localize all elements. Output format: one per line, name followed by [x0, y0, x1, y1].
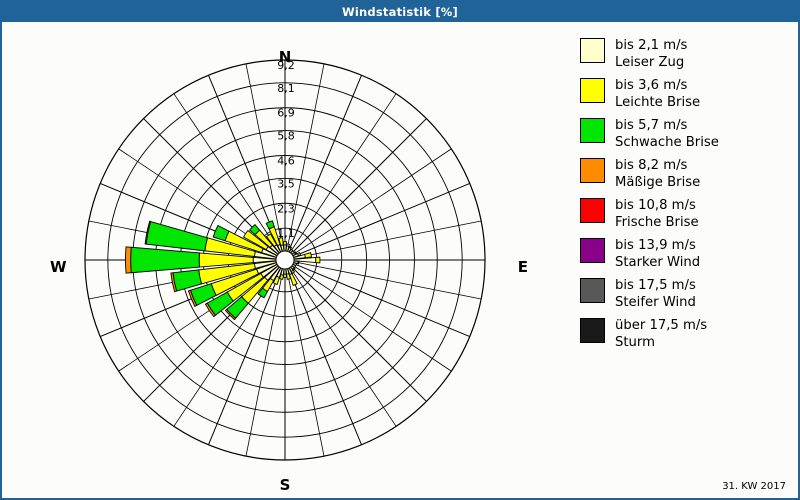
- legend-label: bis 2,1 m/s Leiser Zug: [615, 36, 687, 71]
- legend-swatch-leiser-zug: [580, 38, 605, 63]
- wind-speed-legend: bis 2,1 m/s Leiser Zug bis 3,6 m/s Leich…: [580, 36, 796, 356]
- compass-label-south: S: [2, 476, 568, 494]
- legend-item: bis 10,8 m/s Frische Brise: [580, 196, 796, 231]
- legend-name: Leichte Brise: [615, 94, 700, 111]
- radial-tick-label: 4,6: [277, 155, 295, 168]
- legend-label: bis 13,9 m/s Starker Wind: [615, 236, 700, 271]
- grid-spoke: [294, 262, 481, 299]
- legend-speed: bis 13,9 m/s: [615, 237, 700, 254]
- legend-speed: bis 8,2 m/s: [615, 157, 700, 174]
- legend-item: bis 17,5 m/s Steifer Wind: [580, 276, 796, 311]
- legend-name: Sturm: [615, 334, 707, 351]
- legend-speed: über 17,5 m/s: [615, 317, 707, 334]
- grid-spoke: [290, 267, 396, 426]
- compass-label-west: W: [50, 258, 67, 276]
- wind-rose-petal-segment: [298, 253, 301, 256]
- legend-swatch-frische-brise: [580, 198, 605, 223]
- legend-name: Leiser Zug: [615, 54, 687, 71]
- radial-tick-label: 3,5: [277, 177, 295, 190]
- wind-rose-petal-segment: [125, 247, 131, 273]
- calendar-week-footnote: 31. KW 2017: [722, 481, 786, 492]
- grid-spoke: [291, 266, 426, 401]
- legend-name: Starker Wind: [615, 254, 700, 271]
- window-title: Windstatistik [%]: [342, 5, 458, 19]
- grid-spoke: [288, 75, 361, 251]
- wind-rose-petal-segment: [316, 257, 320, 263]
- legend-speed: bis 3,6 m/s: [615, 77, 700, 94]
- legend-name: Schwache Brise: [615, 134, 719, 151]
- windstatistik-window: Windstatistik [%] 1,12,33,54,65,86,98,19…: [0, 0, 800, 500]
- wind-rose-petal-segment: [290, 274, 298, 286]
- legend-label: bis 17,5 m/s Steifer Wind: [615, 276, 696, 311]
- wind-rose-petal-segment: [289, 246, 291, 248]
- legend-label: bis 3,6 m/s Leichte Brise: [615, 76, 700, 111]
- compass-label-north: N: [2, 48, 568, 66]
- radial-tick-label: 2,3: [277, 202, 295, 215]
- grid-spoke: [287, 269, 324, 456]
- wind-rose-svg: 1,12,33,54,65,86,98,19,2: [2, 22, 568, 498]
- legend-swatch-sturm: [580, 318, 605, 343]
- radial-tick-label: 1,1: [277, 227, 295, 240]
- radial-tick-label: 8,1: [277, 82, 295, 95]
- legend-item: bis 5,7 m/s Schwache Brise: [580, 116, 796, 151]
- legend-name: Mäßige Brise: [615, 174, 700, 191]
- grid-spoke: [293, 263, 469, 336]
- legend-label: bis 5,7 m/s Schwache Brise: [615, 116, 719, 151]
- legend-swatch-maessige-brise: [580, 158, 605, 183]
- radial-tick-labels: 1,12,33,54,65,86,98,19,2: [277, 59, 295, 240]
- grid-spoke: [292, 265, 451, 371]
- legend-name: Frische Brise: [615, 214, 699, 231]
- legend-name: Steifer Wind: [615, 294, 696, 311]
- grid-spoke: [292, 149, 451, 255]
- legend-swatch-schwache-brise: [580, 118, 605, 143]
- legend-label: bis 8,2 m/s Mäßige Brise: [615, 156, 700, 191]
- legend-item: bis 8,2 m/s Mäßige Brise: [580, 156, 796, 191]
- grid-spoke: [290, 94, 396, 253]
- legend-item: bis 2,1 m/s Leiser Zug: [580, 36, 796, 71]
- legend-speed: bis 17,5 m/s: [615, 277, 696, 294]
- wind-rose-petal-segment: [298, 261, 299, 263]
- wind-rose-petal-segment: [131, 247, 200, 272]
- legend-label: bis 10,8 m/s Frische Brise: [615, 196, 699, 231]
- grid-spoke: [293, 183, 469, 256]
- radial-tick-label: 6,9: [277, 107, 295, 120]
- radial-tick-label: 5,8: [277, 130, 295, 143]
- legend-label: über 17,5 m/s Sturm: [615, 316, 707, 351]
- compass-label-east: E: [518, 258, 528, 276]
- legend-item: bis 13,9 m/s Starker Wind: [580, 236, 796, 271]
- grid-spoke: [294, 221, 481, 258]
- legend-item: über 17,5 m/s Sturm: [580, 316, 796, 351]
- wind-rose-petal-segment: [283, 242, 286, 245]
- grid-spoke: [174, 94, 280, 253]
- legend-swatch-steifer-wind: [580, 278, 605, 303]
- grid-spoke: [291, 119, 426, 254]
- wind-rose-petal-segment: [284, 274, 287, 277]
- legend-swatch-starker-wind: [580, 238, 605, 263]
- wind-rose-petal-segment: [146, 222, 207, 251]
- grid-spoke: [288, 268, 361, 444]
- legend-item: bis 3,6 m/s Leichte Brise: [580, 76, 796, 111]
- legend-speed: bis 5,7 m/s: [615, 117, 719, 134]
- window-title-bar: Windstatistik [%]: [2, 2, 798, 22]
- legend-swatch-leichte-brise: [580, 78, 605, 103]
- wind-rose-petal-segment: [305, 253, 312, 258]
- legend-speed: bis 2,1 m/s: [615, 37, 687, 54]
- wind-rose-plot: 1,12,33,54,65,86,98,19,2 N S W E: [2, 22, 568, 498]
- legend-speed: bis 10,8 m/s: [615, 197, 699, 214]
